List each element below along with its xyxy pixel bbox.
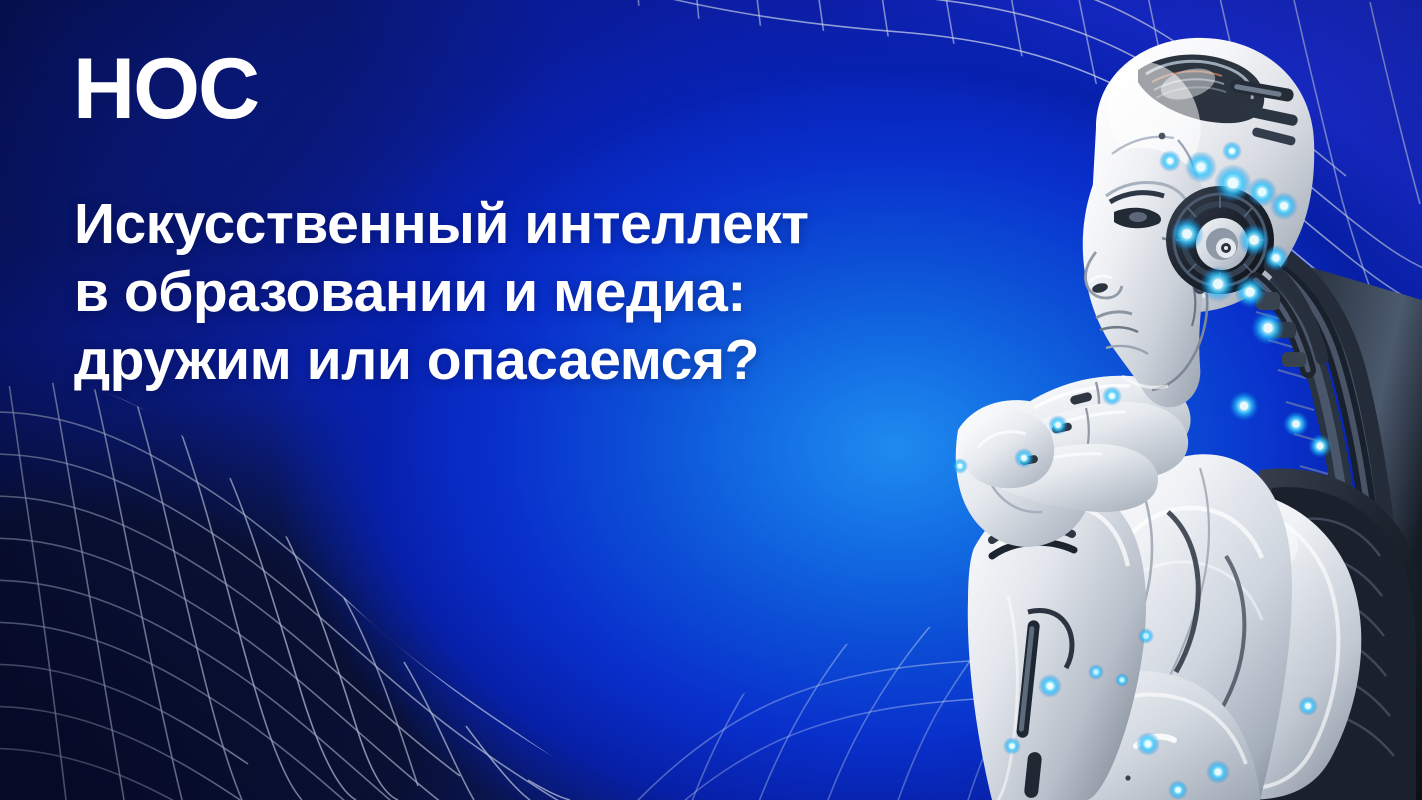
presentation-slide: НОС Искусственный интеллект в образовани…	[0, 0, 1422, 800]
title-line-2: в образовании и медиа:	[74, 258, 974, 326]
slide-title: Искусственный интеллект в образовании и …	[74, 190, 974, 394]
brand-logo: НОС	[73, 46, 258, 132]
title-line-1: Искусственный интеллект	[74, 190, 974, 258]
title-line-3: дружим или опасаемся?	[74, 326, 974, 394]
